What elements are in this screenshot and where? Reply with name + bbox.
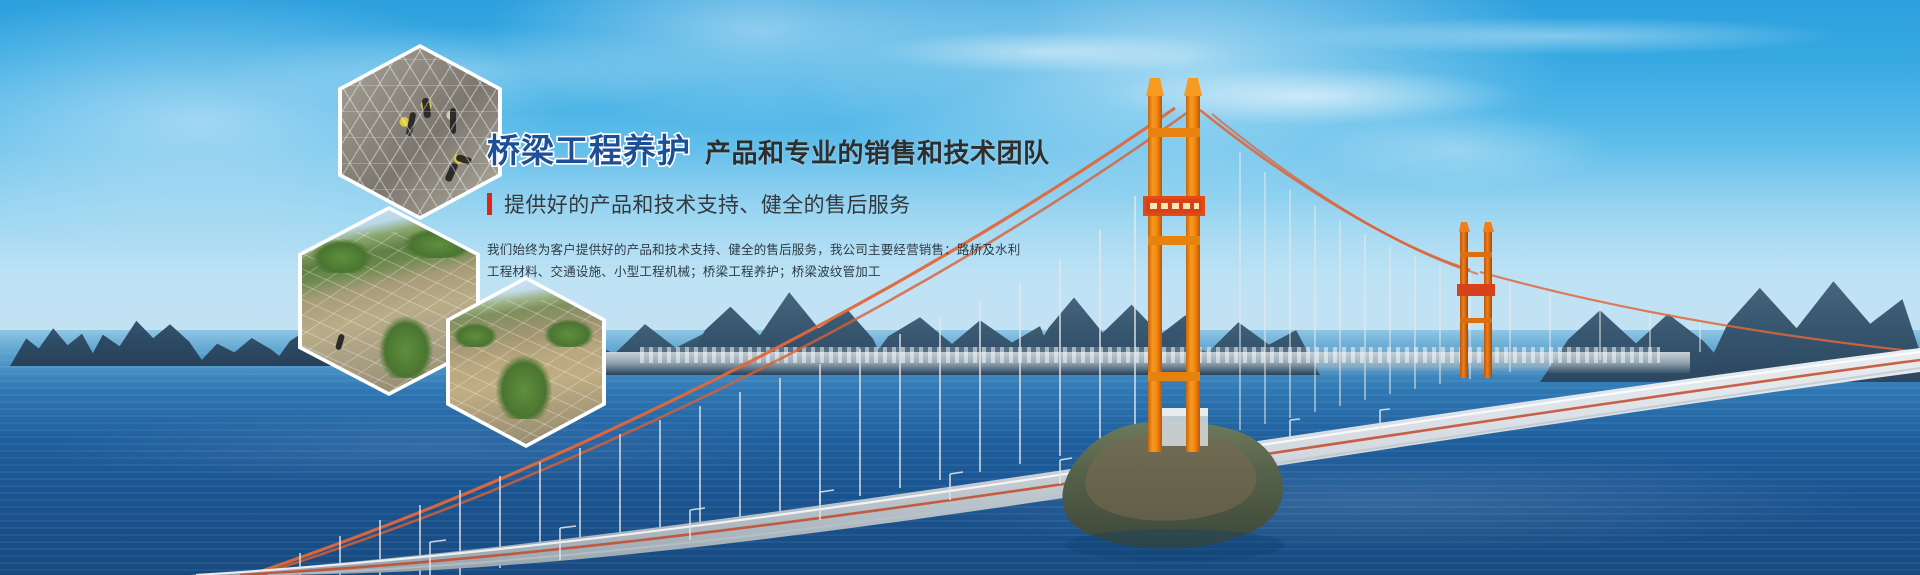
far-town-buildings: [640, 347, 1660, 363]
headline-main-title: 桥梁工程养护: [487, 124, 691, 172]
headline-subtitle: 产品和专业的销售和技术团队: [705, 133, 1050, 170]
banner-paragraph: 我们始终为客户提供好的产品和技术支持、健全的售后服务，我公司主要经营销售：路桥及…: [487, 239, 917, 283]
paragraph-line-1: 我们始终为客户提供好的产品和技术支持、健全的售后服务，我公司主要经营销售：路桥及…: [487, 239, 917, 261]
hex-photo-slope-mesh-workers[interactable]: [338, 44, 502, 220]
hex-photo-1-image: [342, 48, 498, 216]
sea-shimmer: [0, 352, 1920, 575]
hex-photo-3-image: [450, 280, 602, 444]
hero-banner: 桥梁工程养护 产品和专业的销售和技术团队 提供好的产品和技术支持、健全的售后服务…: [0, 0, 1920, 575]
tagline-row: 提供好的产品和技术支持、健全的售后服务: [487, 189, 1187, 219]
tagline-accent-bar: [487, 193, 492, 215]
headline-row: 桥梁工程养护 产品和专业的销售和技术团队: [487, 124, 1187, 172]
banner-copy: 桥梁工程养护 产品和专业的销售和技术团队 提供好的产品和技术支持、健全的售后服务…: [487, 124, 1187, 283]
paragraph-line-2: 工程材料、交通设施、小型工程机械；桥梁工程养护；桥梁波纹管加工: [487, 261, 917, 283]
tagline-text: 提供好的产品和技术支持、健全的售后服务: [504, 189, 911, 219]
